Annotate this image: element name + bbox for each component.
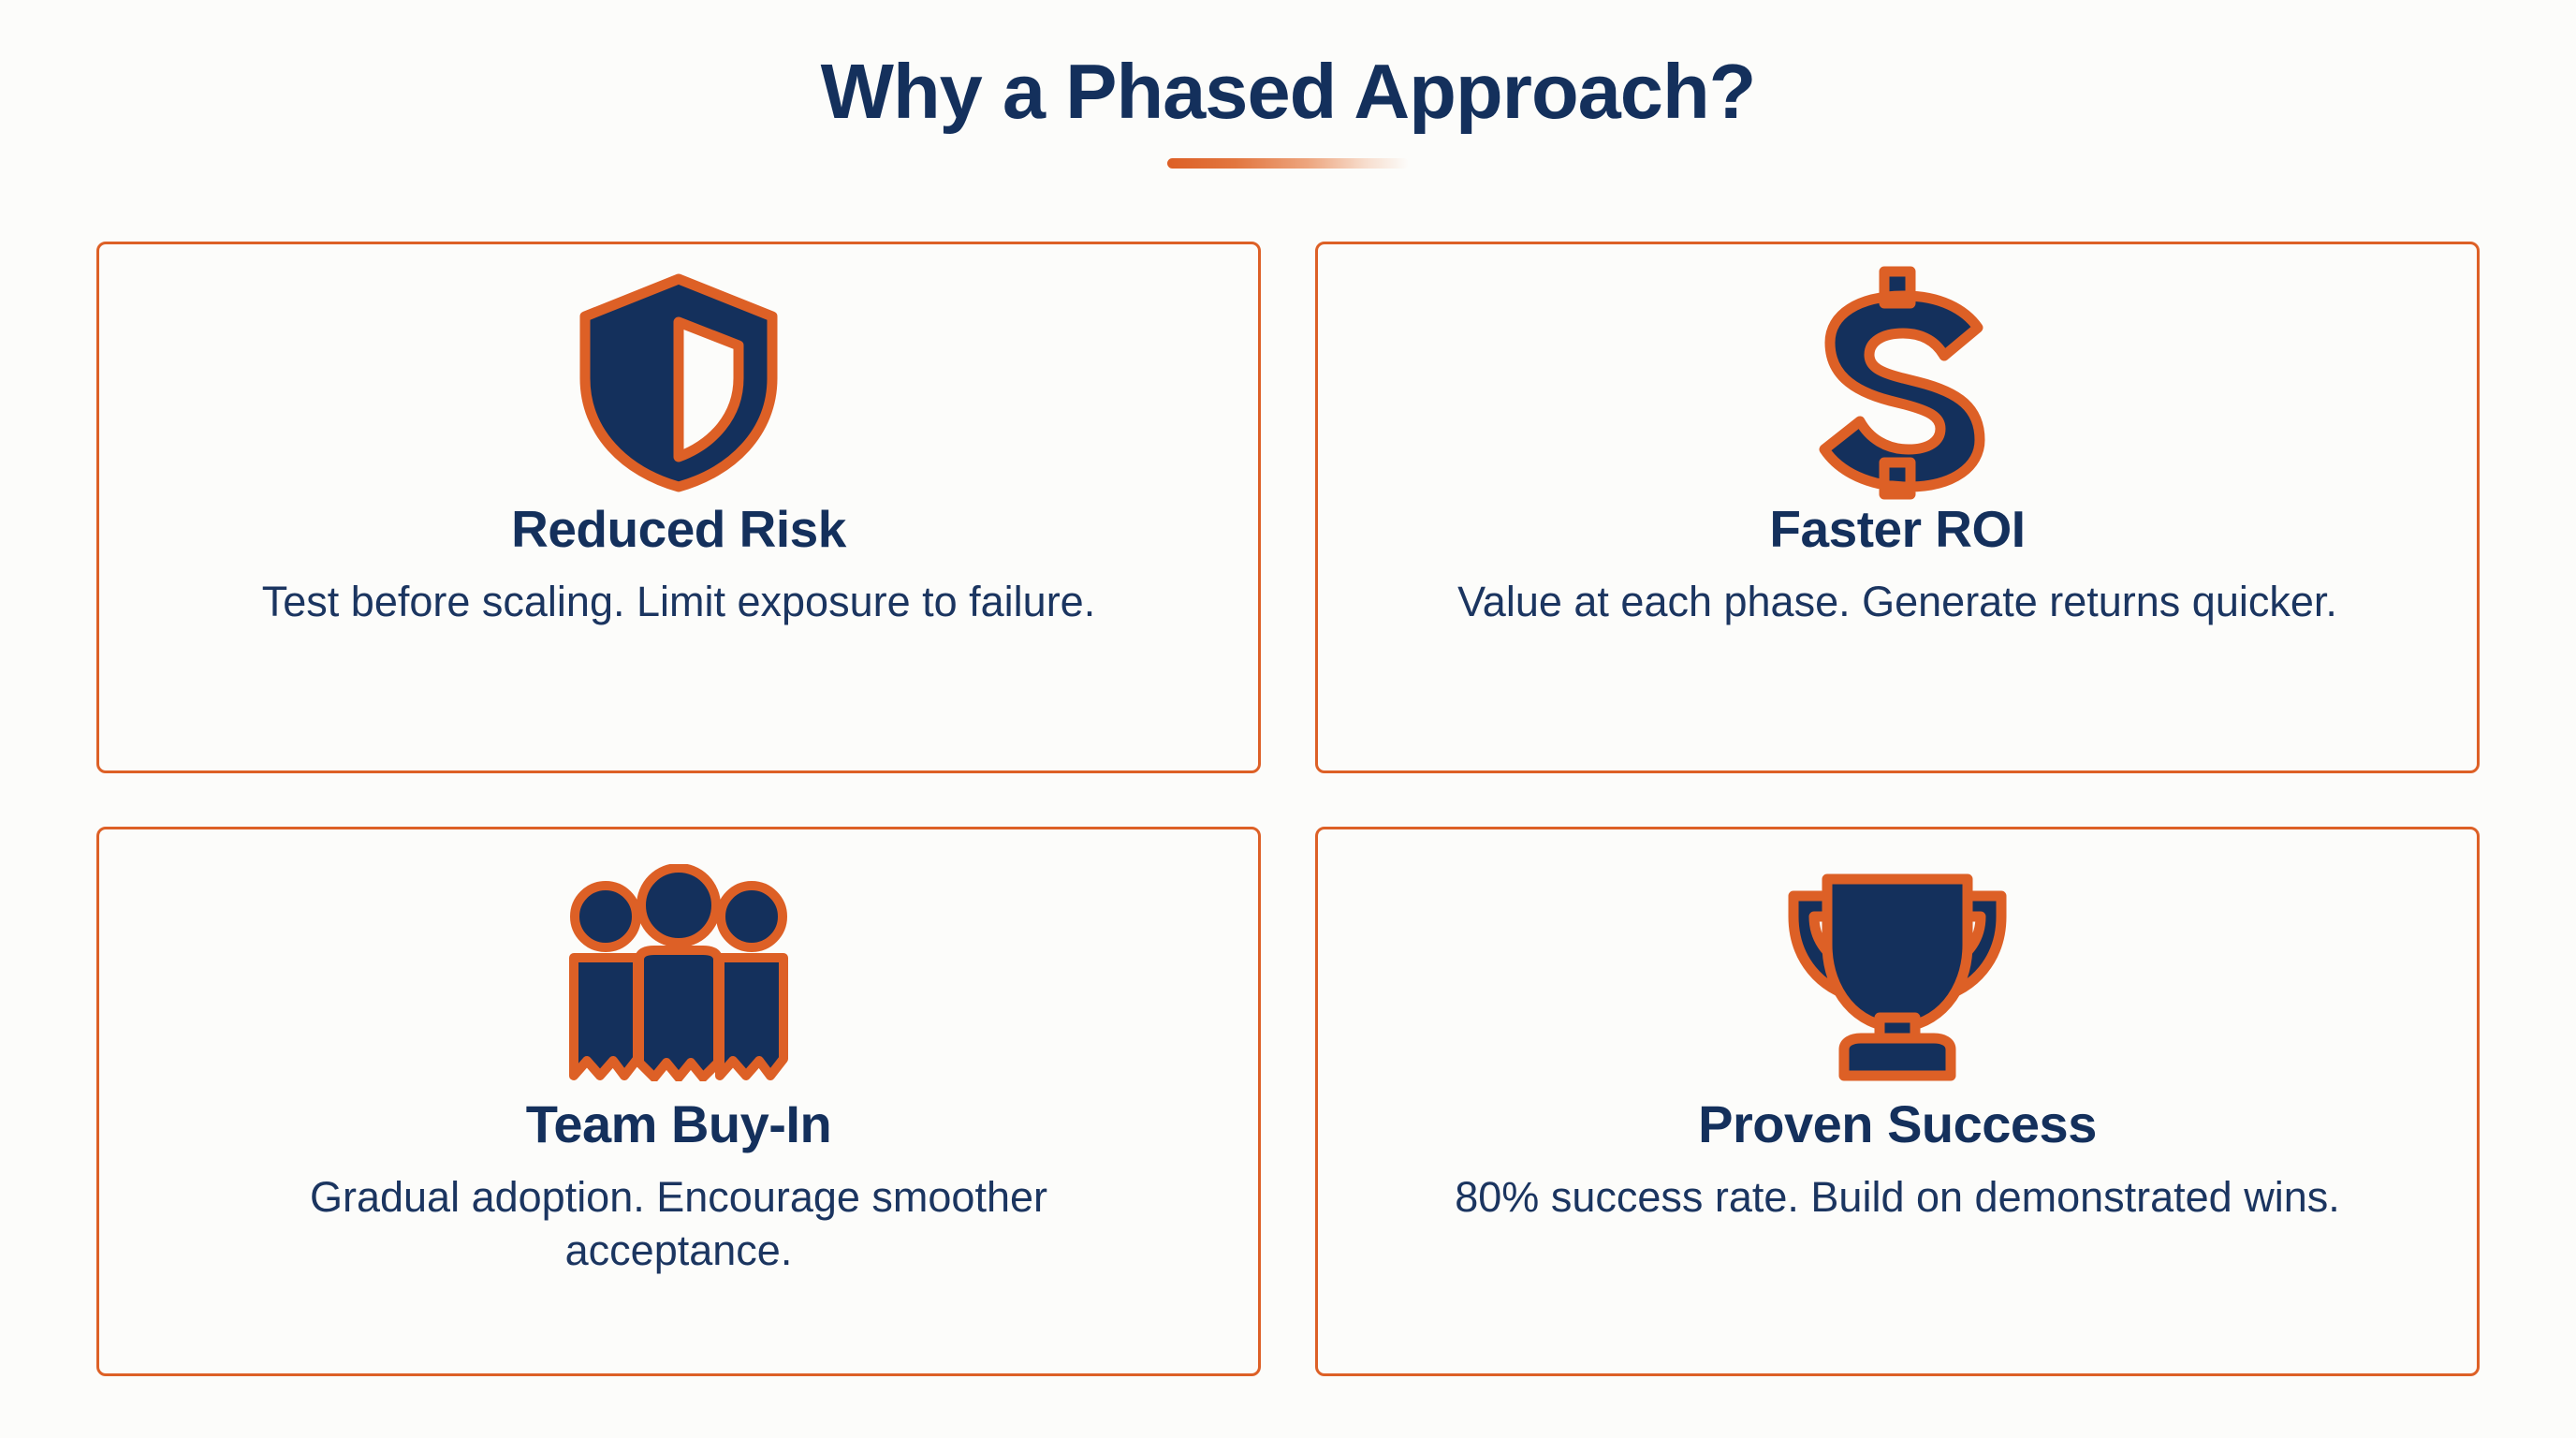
title-underline-accent xyxy=(1167,158,1409,169)
benefit-card-faster-roi[interactable]: Faster ROI Value at each phase. Generate… xyxy=(1315,242,2480,773)
card-title: Team Buy-In xyxy=(526,1095,831,1153)
trophy-icon xyxy=(1782,850,2012,1095)
benefit-card-proven-success[interactable]: Proven Success 80% success rate. Build o… xyxy=(1315,827,2480,1376)
benefit-card-team-buy-in[interactable]: Team Buy-In Gradual adoption. Encourage … xyxy=(96,827,1261,1376)
card-description: 80% success rate. Build on demonstrated … xyxy=(1455,1170,2339,1225)
dollar-sign-icon xyxy=(1804,265,1991,501)
card-description: Value at each phase. Generate returns qu… xyxy=(1457,575,2337,629)
shield-icon xyxy=(579,265,778,501)
page-title: Why a Phased Approach? xyxy=(0,51,2576,132)
people-group-icon xyxy=(553,850,804,1095)
header: Why a Phased Approach? xyxy=(0,51,2576,169)
card-title: Faster ROI xyxy=(1769,501,2025,558)
card-description: Test before scaling. Limit exposure to f… xyxy=(262,575,1095,629)
benefit-card-reduced-risk[interactable]: Reduced Risk Test before scaling. Limit … xyxy=(96,242,1261,773)
card-title: Proven Success xyxy=(1698,1095,2097,1153)
benefit-card-grid: Reduced Risk Test before scaling. Limit … xyxy=(96,242,2480,1376)
card-description: Gradual adoption. Encourage smoother acc… xyxy=(211,1170,1147,1278)
slide-root: Why a Phased Approach? Reduced Risk Test… xyxy=(0,0,2576,1438)
card-title: Reduced Risk xyxy=(511,501,846,558)
